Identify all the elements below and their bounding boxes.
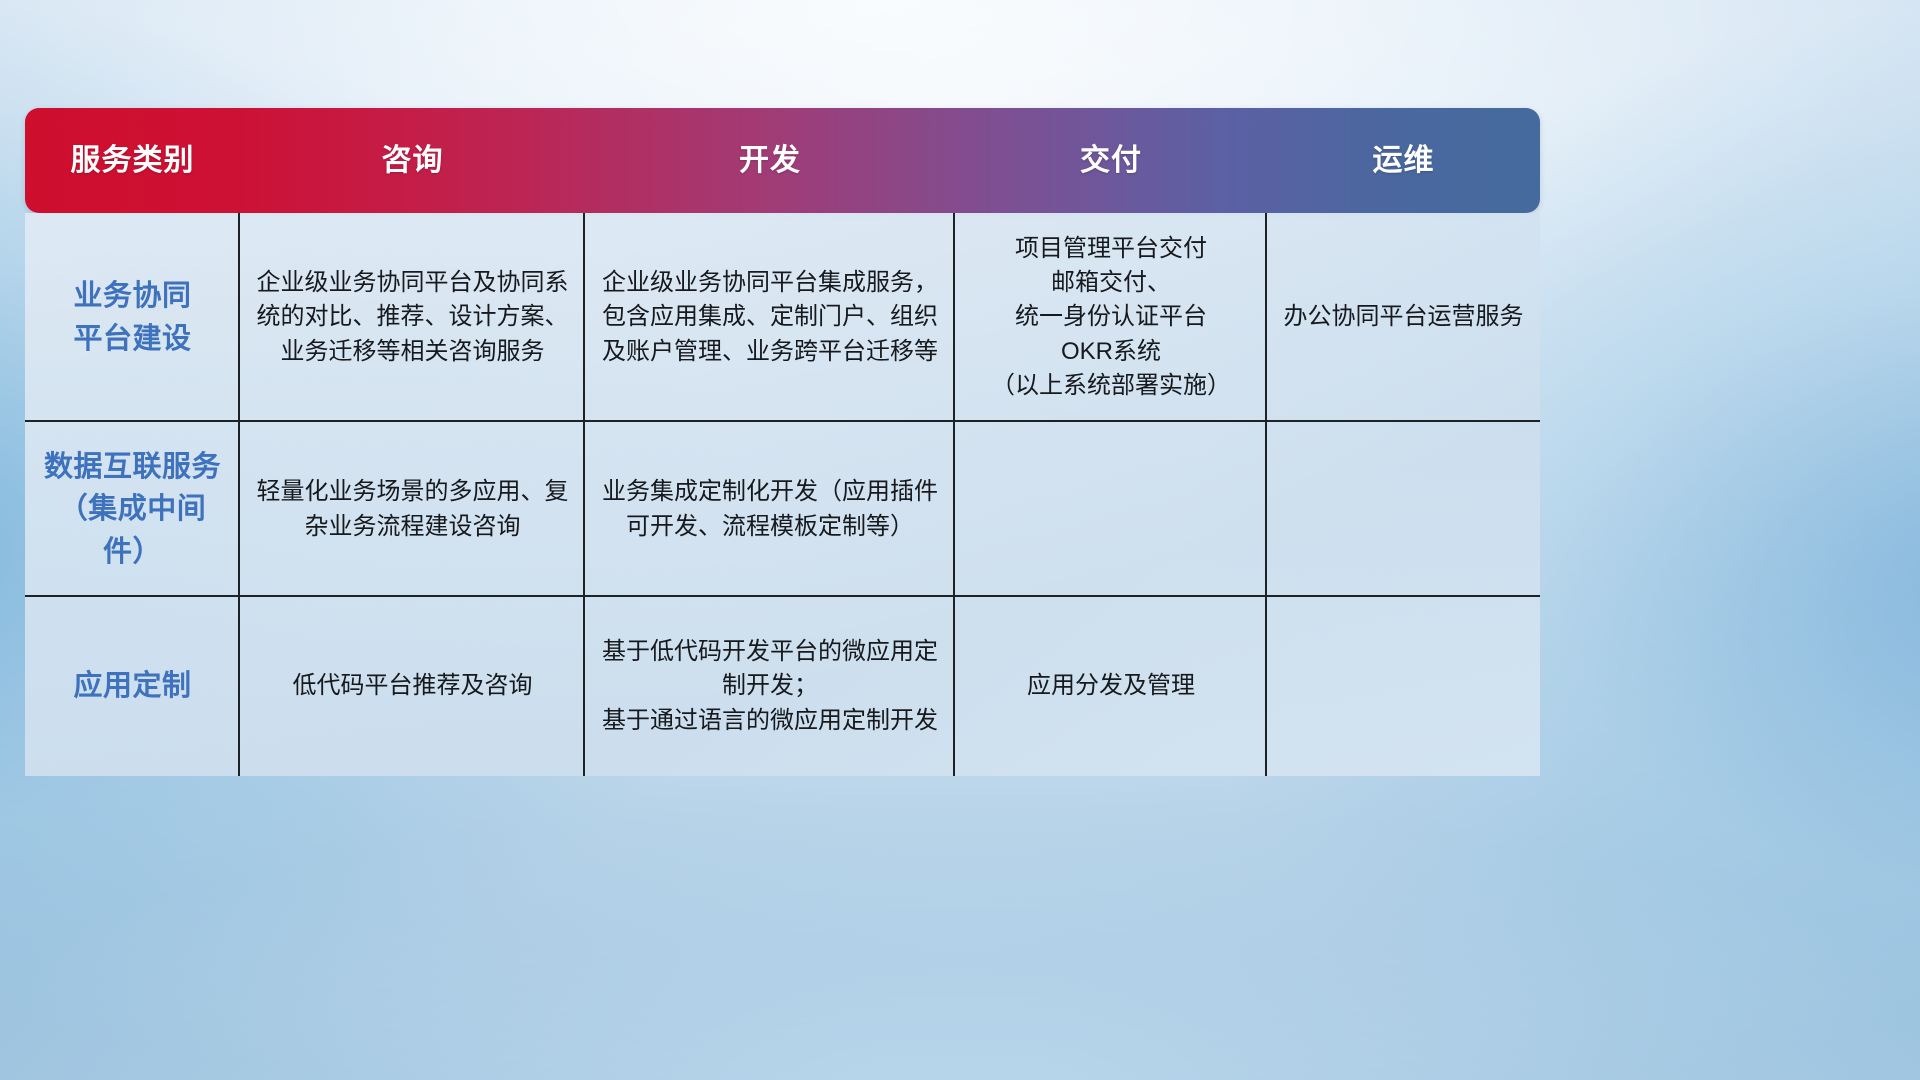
column-header-category: 服务类别 <box>25 146 240 176</box>
cell-delivery-r3: 应用分发及管理 <box>955 597 1267 776</box>
table-header-row: 服务类别 咨询 开发 交付 运维 <box>25 108 1540 213</box>
table-body: 业务协同平台建设 企业级业务协同平台及协同系统的对比、推荐、设计方案、业务迁移等… <box>25 213 1540 776</box>
column-header-delivery: 交付 <box>955 146 1267 176</box>
row-label-data-interconnect: 数据互联服务（集成中间件） <box>25 422 240 597</box>
row-label-business-collaboration: 业务协同平台建设 <box>25 213 240 422</box>
table-row: 数据互联服务（集成中间件） 轻量化业务场景的多应用、复杂业务流程建设咨询 业务集… <box>25 422 1540 597</box>
service-category-table: 服务类别 咨询 开发 交付 运维 业务协同平台建设 企业级业务协同平台及协同系统… <box>25 108 1540 776</box>
cell-consulting-r3: 低代码平台推荐及咨询 <box>240 597 585 776</box>
cell-delivery-r1: 项目管理平台交付邮箱交付、统一身份认证平台OKR系统（以上系统部署实施） <box>955 213 1267 422</box>
cell-operations-r2 <box>1267 422 1540 597</box>
cell-development-r3: 基于低代码开发平台的微应用定制开发；基于通过语言的微应用定制开发 <box>585 597 955 776</box>
row-label-app-customization: 应用定制 <box>25 597 240 776</box>
column-header-development: 开发 <box>585 146 955 176</box>
table-row: 应用定制 低代码平台推荐及咨询 基于低代码开发平台的微应用定制开发；基于通过语言… <box>25 597 1540 776</box>
table-row: 业务协同平台建设 企业级业务协同平台及协同系统的对比、推荐、设计方案、业务迁移等… <box>25 213 1540 422</box>
cell-consulting-r2: 轻量化业务场景的多应用、复杂业务流程建设咨询 <box>240 422 585 597</box>
cell-operations-r1: 办公协同平台运营服务 <box>1267 213 1540 422</box>
cell-development-r1: 企业级业务协同平台集成服务，包含应用集成、定制门户、组织及账户管理、业务跨平台迁… <box>585 213 955 422</box>
cell-development-r2: 业务集成定制化开发（应用插件可开发、流程模板定制等） <box>585 422 955 597</box>
column-header-consulting: 咨询 <box>240 146 585 176</box>
column-header-operations: 运维 <box>1267 146 1540 176</box>
cell-delivery-r2 <box>955 422 1267 597</box>
cell-consulting-r1: 企业级业务协同平台及协同系统的对比、推荐、设计方案、业务迁移等相关咨询服务 <box>240 213 585 422</box>
cell-operations-r3 <box>1267 597 1540 776</box>
